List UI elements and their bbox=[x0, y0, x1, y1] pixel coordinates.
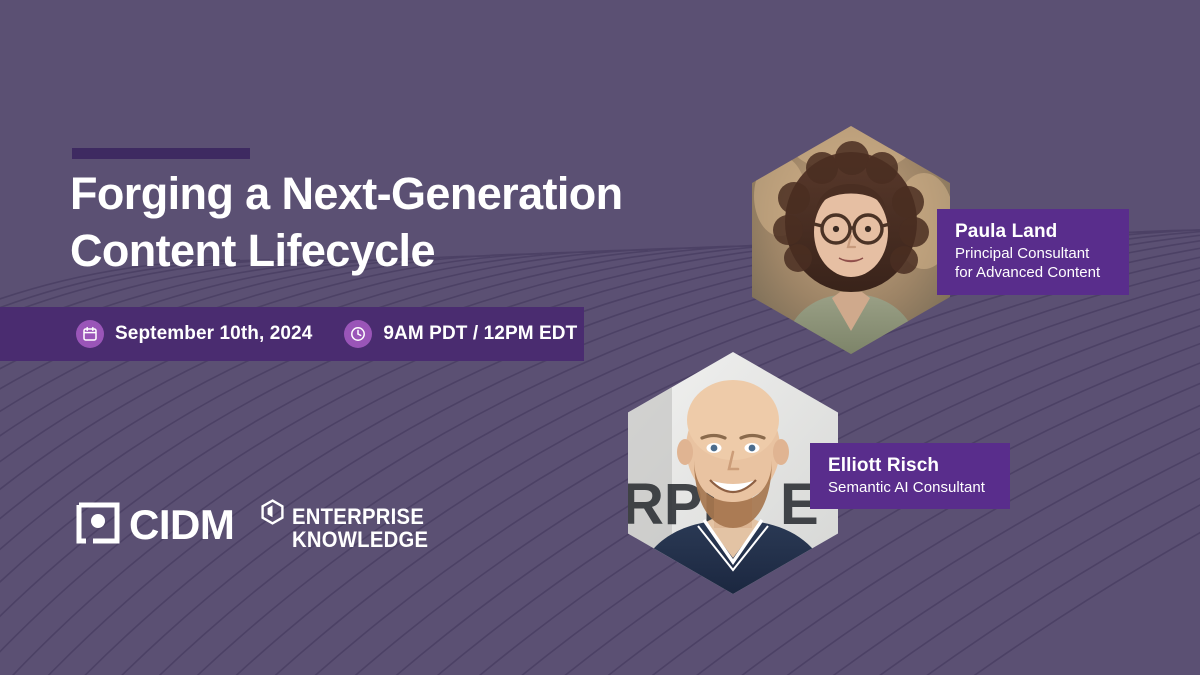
cidm-logo: CIDM bbox=[76, 502, 234, 549]
cidm-wordmark: CIDM bbox=[129, 504, 234, 546]
title-line-2: Content Lifecycle bbox=[70, 223, 710, 280]
enterprise-knowledge-wordmark: ENTERPRISE KNOWLEDGE bbox=[292, 506, 440, 551]
event-details-banner: September 10th, 2024 9AM PDT / 12PM EDT bbox=[0, 307, 584, 361]
event-time-group: 9AM PDT / 12PM EDT bbox=[344, 320, 577, 348]
ek-line-2: KNOWLEDGE bbox=[292, 529, 428, 552]
cidm-square-dot-icon bbox=[76, 502, 120, 549]
speaker-role-line-1: Principal Consultant bbox=[955, 244, 1113, 264]
webinar-promo-poster: Forging a Next-Generation Content Lifecy… bbox=[0, 0, 1200, 675]
speaker-role-line-1: Semantic AI Consultant bbox=[828, 478, 994, 498]
logo-row: CIDM ENTERPRISE KNOWLEDGE bbox=[76, 499, 440, 551]
page-title: Forging a Next-Generation Content Lifecy… bbox=[70, 166, 710, 279]
clock-icon bbox=[344, 320, 372, 348]
title-accent-bar bbox=[72, 148, 250, 159]
speaker-nameplate-paula-land: Paula Land Principal Consultant for Adva… bbox=[937, 209, 1129, 295]
enterprise-knowledge-logo: ENTERPRISE KNOWLEDGE bbox=[260, 499, 440, 551]
title-line-1: Forging a Next-Generation bbox=[70, 166, 710, 223]
speaker-name: Elliott Risch bbox=[828, 454, 994, 478]
speaker-name: Paula Land bbox=[955, 220, 1113, 244]
event-date-group: September 10th, 2024 bbox=[76, 320, 312, 348]
calendar-icon bbox=[76, 320, 104, 348]
event-time-text: 9AM PDT / 12PM EDT bbox=[383, 323, 577, 345]
event-date-text: September 10th, 2024 bbox=[115, 323, 312, 345]
speaker-role-line-2: for Advanced Content bbox=[955, 263, 1113, 283]
speaker-nameplate-elliott-risch: Elliott Risch Semantic AI Consultant bbox=[810, 443, 1010, 509]
ek-line-1: ENTERPRISE bbox=[292, 506, 428, 529]
hexagon-icon bbox=[260, 499, 285, 531]
